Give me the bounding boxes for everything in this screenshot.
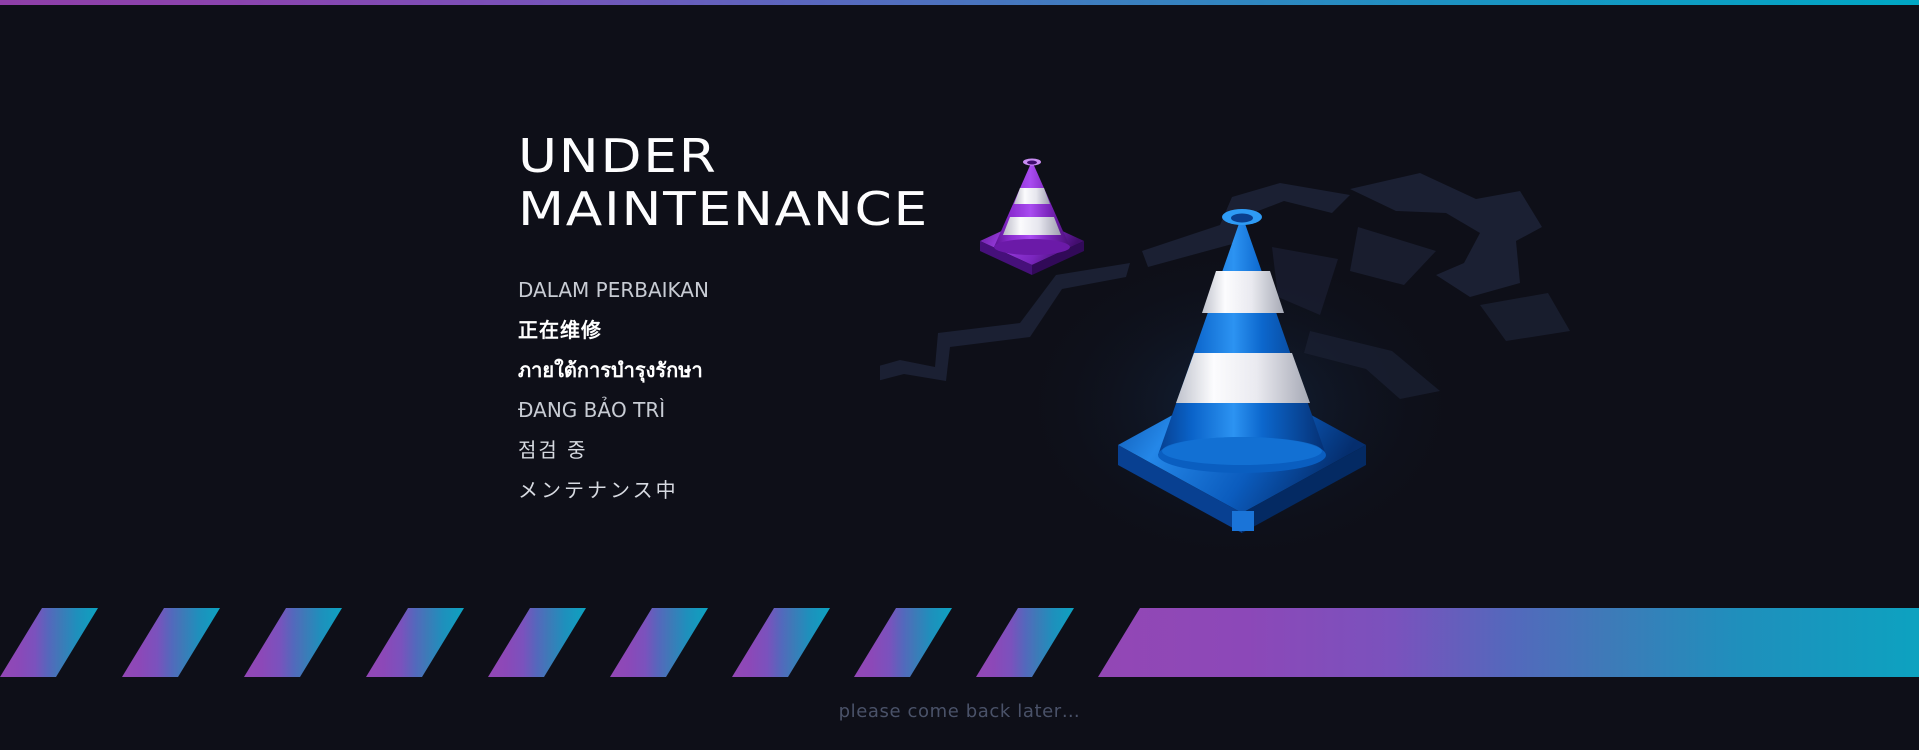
main-stage: UNDER MAINTENANCE DALAM PERBAIKAN 正在维修 ภ…: [0, 5, 1919, 608]
hazard-stripe: [976, 608, 1074, 677]
hazard-stripe: [244, 608, 342, 677]
hazard-stripe: [610, 608, 708, 677]
purple-cone-band-lower: [1003, 217, 1061, 235]
blue-cone-band-lower: [1176, 353, 1310, 403]
hazard-stripe: [0, 608, 98, 677]
maintenance-illustration: [880, 155, 1580, 575]
hazard-solid-band: [1098, 608, 1919, 677]
traffic-cone-purple: [980, 159, 1084, 276]
footer: please come back later…: [0, 677, 1919, 750]
blue-cone-tip-hole: [1231, 214, 1253, 223]
hazard-stripe: [366, 608, 464, 677]
hazard-stripe: [854, 608, 952, 677]
hazard-stripe: [732, 608, 830, 677]
purple-cone-foot-ring: [994, 239, 1070, 255]
hazard-stripe: [122, 608, 220, 677]
purple-cone-tip-hole: [1027, 161, 1037, 165]
hazard-stripes: [0, 608, 1919, 677]
hazard-stripe-band: [0, 608, 1919, 677]
ground-crack-shard-c: [1480, 293, 1570, 341]
blue-cone-foot-highlight: [1162, 437, 1322, 465]
footer-message: please come back later…: [0, 701, 1919, 722]
blue-cone-base-foot: [1232, 511, 1254, 531]
hazard-stripe: [488, 608, 586, 677]
purple-cone-band-upper: [1014, 188, 1050, 204]
blue-cone-band-upper: [1202, 271, 1284, 313]
